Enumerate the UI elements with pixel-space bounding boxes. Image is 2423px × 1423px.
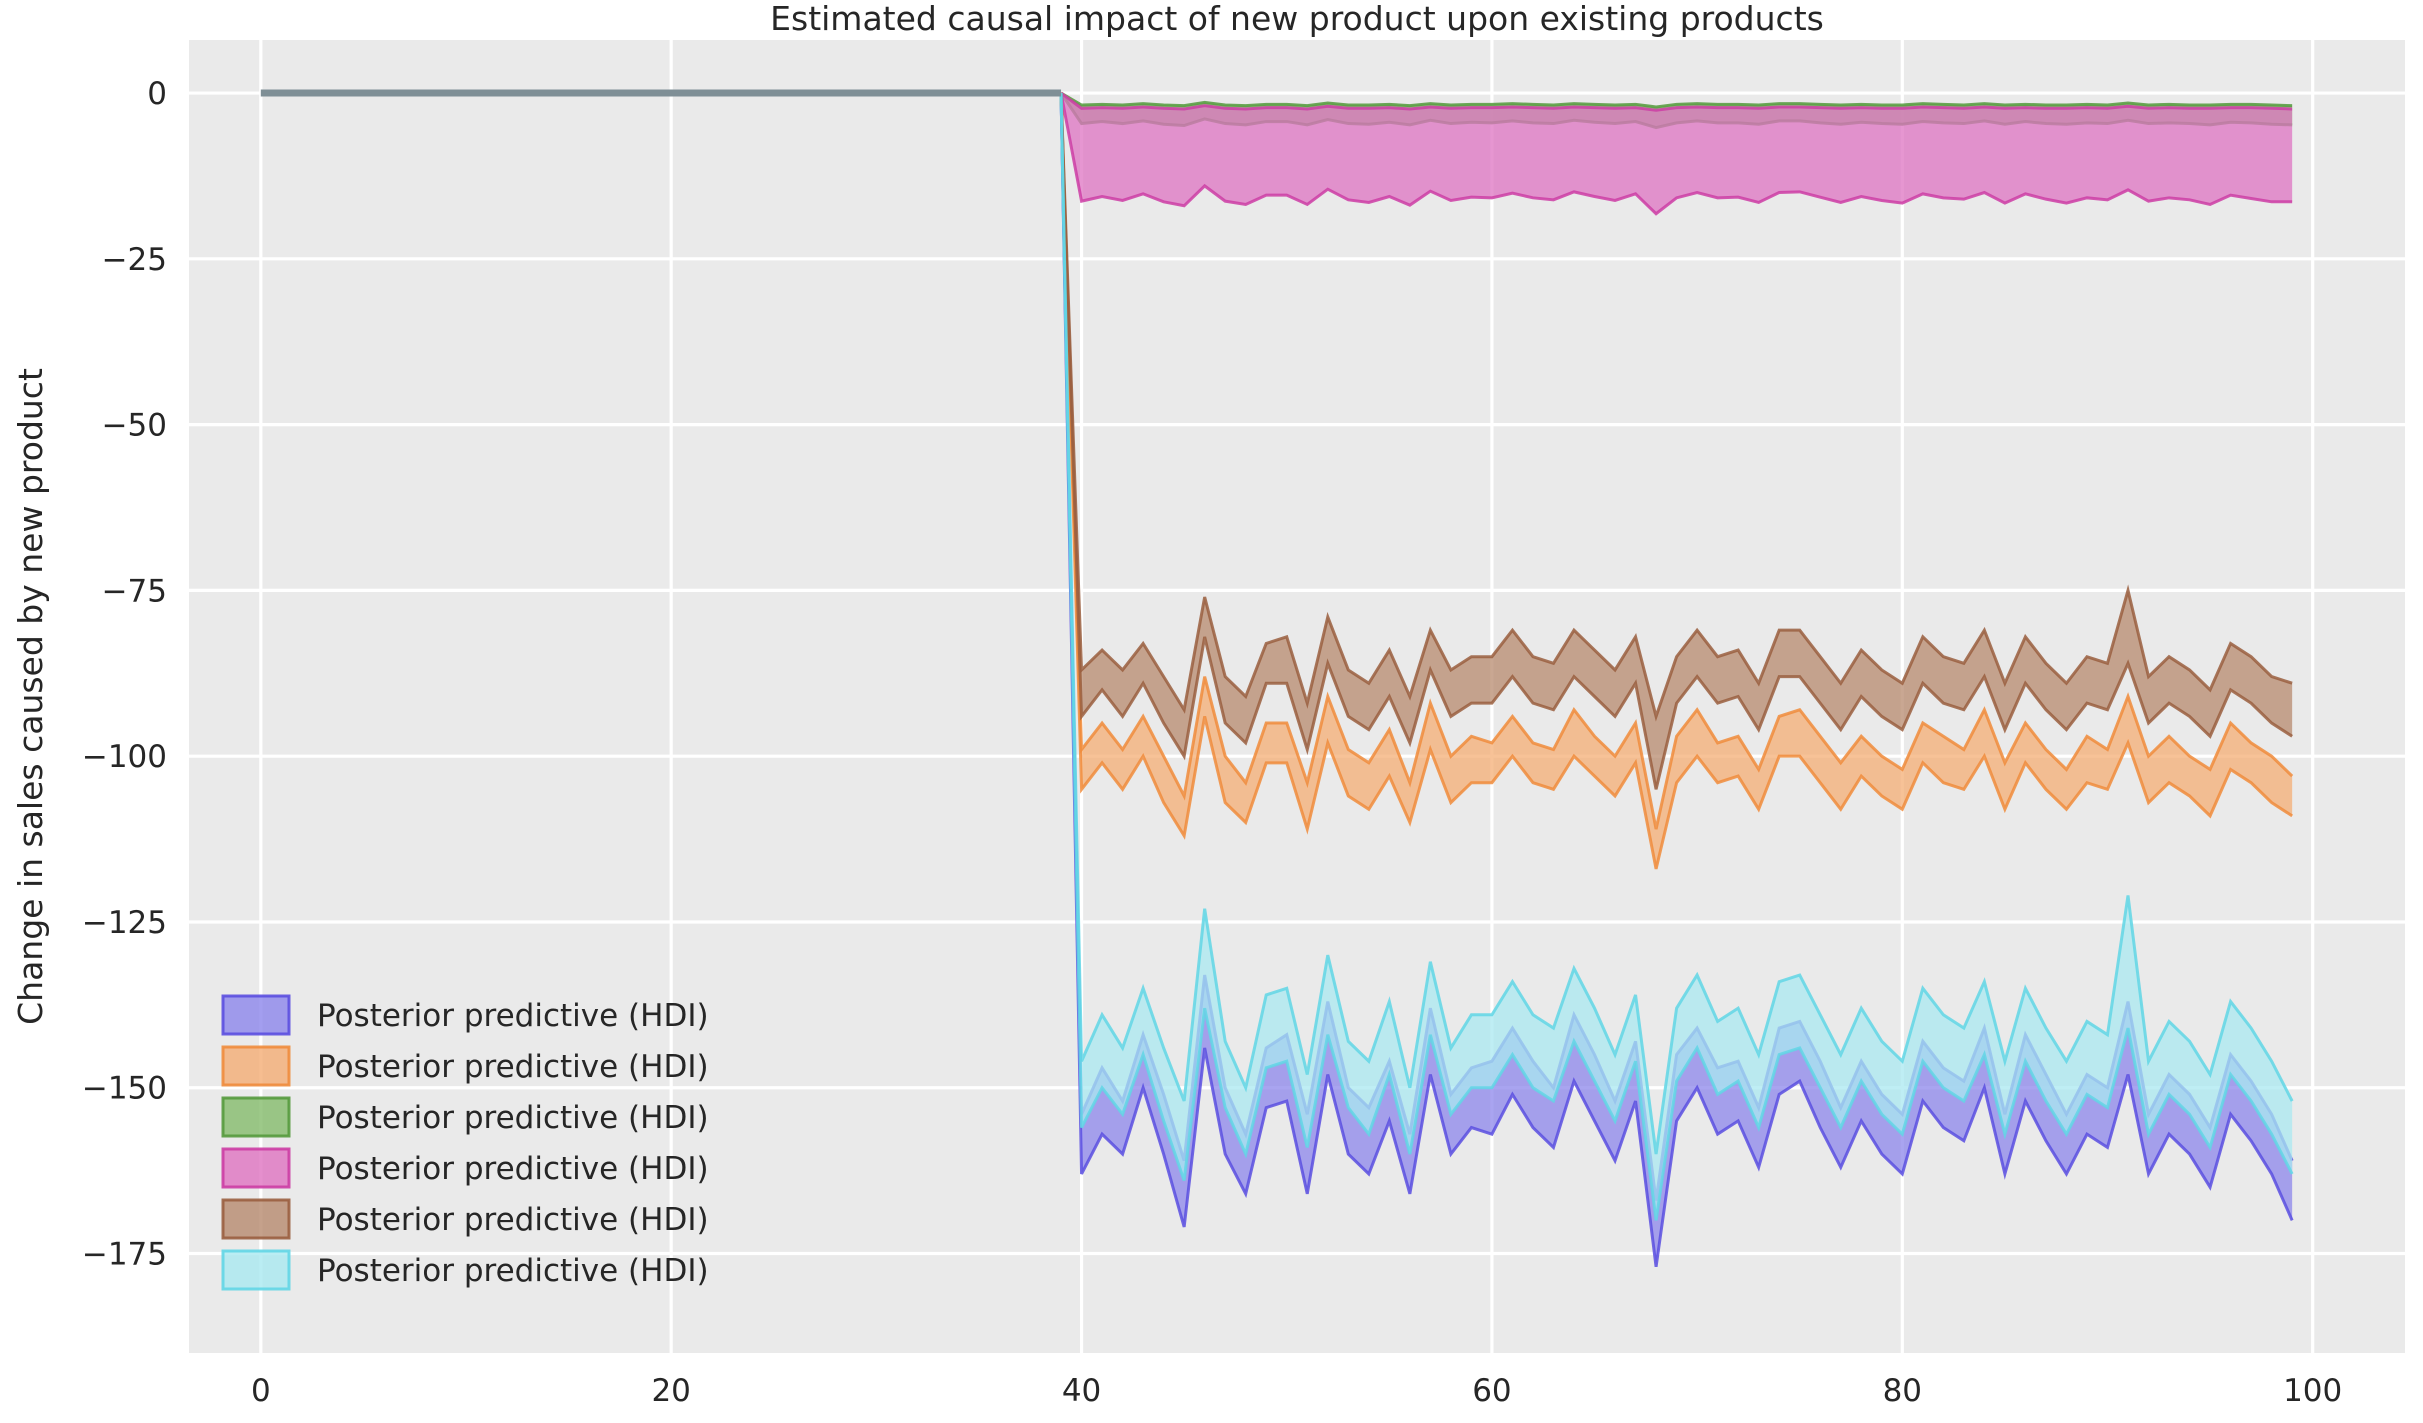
legend-label: Posterior predictive (HDI) xyxy=(317,1202,709,1238)
legend-label: Posterior predictive (HDI) xyxy=(317,1253,709,1289)
causal-impact-chart: 0204060801000−25−50−75−100−125−150−175Es… xyxy=(0,0,2423,1423)
chart-title: Estimated causal impact of new product u… xyxy=(770,0,1824,38)
legend-label: Posterior predictive (HDI) xyxy=(317,1100,709,1136)
y-tick-label: −75 xyxy=(102,573,167,609)
y-tick-label: 0 xyxy=(147,76,167,112)
y-tick-label: −50 xyxy=(102,408,167,444)
hdi-band-fill xyxy=(1061,93,2292,214)
y-tick-label: −125 xyxy=(82,905,167,941)
legend-swatch xyxy=(223,996,289,1034)
legend-label: Posterior predictive (HDI) xyxy=(317,1151,709,1187)
x-tick-label: 40 xyxy=(1062,1373,1101,1409)
legend-swatch xyxy=(223,1047,289,1085)
y-axis-label: Change in sales caused by new product xyxy=(11,368,50,1025)
y-tick-label: −100 xyxy=(82,739,167,775)
x-tick-label: 60 xyxy=(1472,1373,1511,1409)
legend-label: Posterior predictive (HDI) xyxy=(317,998,709,1034)
legend-swatch xyxy=(223,1251,289,1289)
x-tick-label: 20 xyxy=(651,1373,690,1409)
y-tick-label: −25 xyxy=(102,242,167,278)
y-tick-label: −150 xyxy=(82,1071,167,1107)
x-tick-label: 0 xyxy=(251,1373,271,1409)
legend-swatch xyxy=(223,1149,289,1187)
legend-label: Posterior predictive (HDI) xyxy=(317,1049,709,1085)
y-tick-label: −175 xyxy=(82,1237,167,1273)
figure-canvas: 0204060801000−25−50−75−100−125−150−175Es… xyxy=(0,0,2423,1423)
x-tick-label: 80 xyxy=(1883,1373,1922,1409)
hdi-band-series-4 xyxy=(1061,93,2292,214)
legend-swatch xyxy=(223,1098,289,1136)
legend-swatch xyxy=(223,1200,289,1238)
x-tick-label: 100 xyxy=(2283,1373,2342,1409)
